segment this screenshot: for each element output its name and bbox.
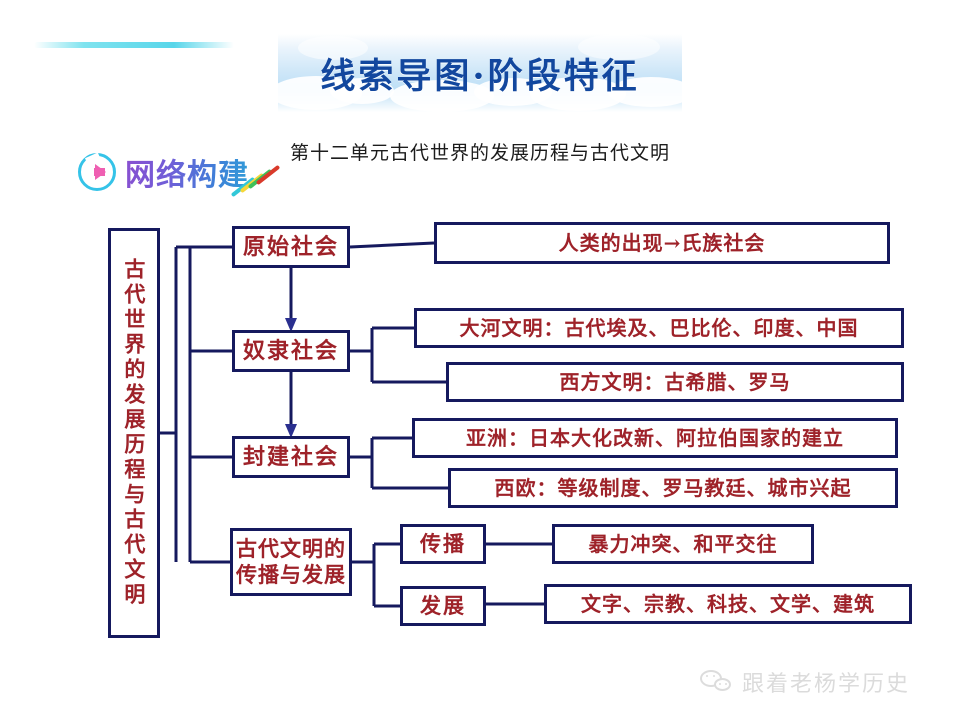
node-slave-society[interactable]: 奴隶社会 <box>232 330 350 372</box>
content-box-western-civilizations[interactable]: 西方文明：古希腊、罗马 <box>446 362 904 402</box>
slide-canvas: 线索导图·阶段特征 第十二单元古代世界的发展历程与古代文明 网络构建 <box>0 0 960 720</box>
arrow-right-icon <box>95 164 106 180</box>
node-development[interactable]: 发展 <box>400 586 486 626</box>
root-node[interactable]: 古代世界的发展历程与古代文明 <box>108 228 160 638</box>
page-title: 线索导图·阶段特征 <box>278 48 682 99</box>
content-box-western-europe[interactable]: 西欧：等级制度、罗马教廷、城市兴起 <box>448 468 898 508</box>
content-box-development-fields[interactable]: 文字、宗教、科技、文学、建筑 <box>544 584 912 624</box>
node-primitive-society[interactable]: 原始社会 <box>232 226 350 268</box>
node-civ-line-1: 古代文明的 <box>236 536 346 562</box>
content-box-human-origin[interactable]: 人类的出现→氏族社会 <box>434 222 890 264</box>
node-feudal-society[interactable]: 封建社会 <box>232 436 350 478</box>
content-box-asia[interactable]: 亚洲：日本大化改新、阿拉伯国家的建立 <box>412 418 898 458</box>
watermark: 跟着老杨学历史 <box>700 666 910 698</box>
node-spread[interactable]: 传播 <box>400 524 486 564</box>
wechat-icon <box>700 669 734 695</box>
content-box-river-civilizations[interactable]: 大河文明：古代埃及、巴比伦、印度、中国 <box>414 308 904 348</box>
watermark-label: 跟着老杨学历史 <box>742 666 910 698</box>
node-civ-line-2: 传播与发展 <box>236 562 346 588</box>
mind-map-diagram: 古代世界的发展历程与古代文明 原始社会 奴隶社会 封建社会 古代文明的 传播与发… <box>0 0 960 720</box>
content-box-spread-methods[interactable]: 暴力冲突、和平交往 <box>552 524 814 564</box>
node-ancient-civilization[interactable]: 古代文明的 传播与发展 <box>230 528 352 596</box>
